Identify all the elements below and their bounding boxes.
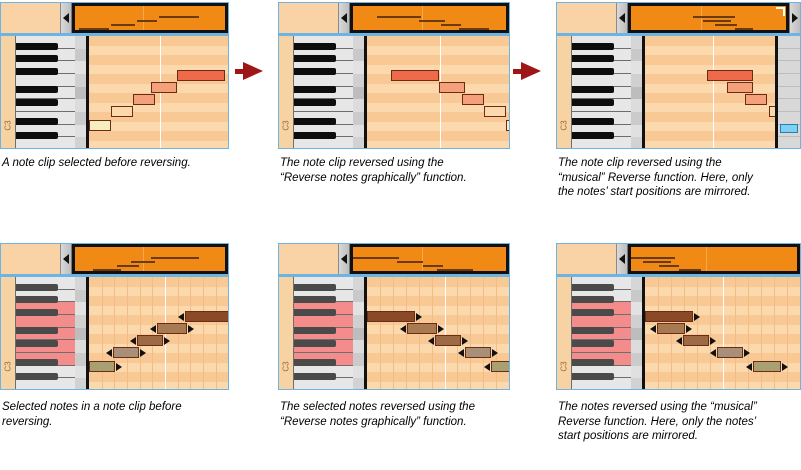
black-key-2[interactable] xyxy=(572,55,614,62)
black-key-5[interactable] xyxy=(16,99,58,106)
clip-overview[interactable] xyxy=(72,244,228,274)
note-2[interactable] xyxy=(407,323,437,334)
grid-beat-line-7 xyxy=(457,277,458,390)
triangle-left-icon xyxy=(63,254,69,264)
note-wrapper-2 xyxy=(111,106,133,117)
velocity-segment-2 xyxy=(631,290,642,303)
grid-beat-line-1 xyxy=(380,277,381,390)
overview-note-1 xyxy=(93,269,121,271)
scroll-segment-3 xyxy=(778,61,800,74)
velocity-segment-7 xyxy=(353,112,364,125)
overview-left-handle[interactable] xyxy=(617,3,628,33)
overview-left-pane xyxy=(1,244,61,274)
velocity-segment-5 xyxy=(353,328,364,341)
overview-note-1 xyxy=(377,16,421,18)
grid-beat-line-9 xyxy=(761,277,762,390)
note-handle-left-3[interactable] xyxy=(130,337,136,345)
white-key-9[interactable] xyxy=(294,137,353,149)
black-key-6[interactable] xyxy=(294,118,336,125)
white-key-4[interactable] xyxy=(16,315,75,328)
grid-row-band-1 xyxy=(89,277,228,287)
note-grid[interactable] xyxy=(642,277,800,390)
white-key-4[interactable] xyxy=(294,74,353,87)
note-handle-left-2[interactable] xyxy=(650,325,656,333)
caption-line-1: The notes reversed using the “musical” xyxy=(558,400,801,415)
black-key-2[interactable] xyxy=(572,296,614,303)
piano-keyboard[interactable] xyxy=(571,36,631,149)
note-wrapper-2 xyxy=(113,347,139,358)
grid-row-band-11 xyxy=(645,131,775,141)
note-handle-left-1[interactable] xyxy=(86,363,88,371)
note-2[interactable] xyxy=(113,347,139,358)
note-handle-left-2[interactable] xyxy=(106,349,112,357)
clip-overview[interactable] xyxy=(350,244,509,274)
note-5[interactable] xyxy=(491,361,509,372)
velocity-segment-9 xyxy=(353,137,364,149)
overview-note-4 xyxy=(437,269,473,271)
overview-left-handle[interactable] xyxy=(339,244,350,274)
keyboard-note-label: C3 xyxy=(4,118,13,134)
velocity-segment-6 xyxy=(631,99,642,112)
black-key-1[interactable] xyxy=(572,284,614,291)
note-wrapper-2 xyxy=(727,82,753,93)
note-wrapper-2 xyxy=(439,82,465,93)
black-key-6[interactable] xyxy=(16,359,58,366)
note-clip-reversed-musical-caption: The note clip reversed using the“musical… xyxy=(558,156,801,200)
piano-keyboard[interactable] xyxy=(293,36,353,149)
black-key-7[interactable] xyxy=(294,373,336,380)
scroll-segment-6 xyxy=(778,99,800,112)
black-key-2[interactable] xyxy=(16,55,58,62)
velocity-strip xyxy=(75,36,86,149)
velocity-segment-7 xyxy=(631,112,642,125)
triangle-left-icon xyxy=(341,13,347,23)
clip-overview[interactable] xyxy=(628,244,800,274)
overview-note-2 xyxy=(419,20,445,22)
note-handle-left-5[interactable] xyxy=(484,363,490,371)
velocity-segment-9 xyxy=(631,137,642,149)
black-key-3[interactable] xyxy=(294,68,336,75)
note-handle-left-4[interactable] xyxy=(710,349,716,357)
note-handle-left-4[interactable] xyxy=(150,325,156,333)
note-1[interactable] xyxy=(367,311,415,322)
note-1[interactable] xyxy=(89,361,115,372)
grid-row-band-3 xyxy=(89,55,228,65)
clip-resize-corner[interactable] xyxy=(776,7,785,16)
note-4[interactable] xyxy=(769,106,778,117)
note-wrapper-4 xyxy=(484,106,506,117)
grid-beat-line-6 xyxy=(445,277,446,390)
note-handle-right-4[interactable] xyxy=(492,349,498,357)
black-key-2[interactable] xyxy=(294,55,336,62)
note-grid[interactable] xyxy=(364,277,509,390)
black-key-5[interactable] xyxy=(16,340,58,347)
note-1[interactable] xyxy=(391,70,439,81)
velocity-segment-5 xyxy=(75,87,86,100)
clip-overview[interactable] xyxy=(350,3,509,33)
overview-tick xyxy=(701,6,702,30)
black-key-5[interactable] xyxy=(294,99,336,106)
note-wrapper-3 xyxy=(683,335,709,346)
note-wrapper-4 xyxy=(465,347,491,358)
black-key-4[interactable] xyxy=(572,86,614,93)
black-key-1[interactable] xyxy=(16,284,58,291)
overview-note-4 xyxy=(735,28,753,30)
black-key-7[interactable] xyxy=(572,373,614,380)
note-wrapper-5 xyxy=(491,361,509,372)
black-key-4[interactable] xyxy=(294,86,336,93)
overview-tick xyxy=(422,247,423,271)
overview-left-pane xyxy=(557,244,617,274)
velocity-segment-5 xyxy=(631,87,642,100)
overview-right-handle[interactable] xyxy=(789,3,800,33)
triangle-left-icon xyxy=(63,13,69,23)
note-wrapper-5 xyxy=(506,120,509,131)
note-3[interactable] xyxy=(137,335,163,346)
overview-tick xyxy=(143,247,144,271)
scroll-segment-1 xyxy=(778,36,800,49)
black-key-2[interactable] xyxy=(294,296,336,303)
note-handle-right-5[interactable] xyxy=(782,363,788,371)
keyboard-margin: C3 xyxy=(1,277,15,390)
black-key-3[interactable] xyxy=(572,68,614,75)
note-handle-right-3[interactable] xyxy=(462,337,468,345)
selected-notes-reversed-graphically-caption: The selected notes reversed using the“Re… xyxy=(280,400,530,429)
overview-note-3 xyxy=(423,265,443,267)
note-clip-original-caption: A note clip selected before reversing. xyxy=(2,156,252,171)
white-key-9[interactable] xyxy=(572,378,631,390)
caption-line-1: The note clip reversed using the xyxy=(280,156,530,171)
grid-row-band-7 xyxy=(367,93,509,103)
black-key-3[interactable] xyxy=(572,309,614,316)
note-handle-left-5[interactable] xyxy=(178,313,184,321)
black-key-6[interactable] xyxy=(572,359,614,366)
note-handle-right-3[interactable] xyxy=(710,337,716,345)
arrow-step-1-to-2 xyxy=(243,62,263,80)
grid-row-band-1 xyxy=(367,277,509,287)
overview-left-pane xyxy=(279,244,339,274)
grid-beat-line-5 xyxy=(710,277,711,390)
note-wrapper-5 xyxy=(753,361,781,372)
note-1[interactable] xyxy=(707,70,753,81)
grid-beat-line-10 xyxy=(774,277,775,390)
note-handle-left-3[interactable] xyxy=(428,337,434,345)
note-handle-right-4[interactable] xyxy=(188,325,194,333)
note-3[interactable] xyxy=(133,94,155,105)
vertical-scroll-pad[interactable] xyxy=(778,36,800,149)
black-key-3[interactable] xyxy=(16,309,58,316)
velocity-segment-8 xyxy=(353,366,364,379)
caption-line-1: A note clip selected before reversing. xyxy=(2,156,252,171)
note-wrapper-5 xyxy=(185,311,228,322)
overview-left-pane xyxy=(557,3,617,33)
note-grid[interactable] xyxy=(642,36,778,149)
clip-overview[interactable] xyxy=(72,3,228,33)
selected-notes-reversed-graphically-body: C3 xyxy=(279,277,509,390)
grid-beat-line-8 xyxy=(748,277,749,390)
black-key-1[interactable] xyxy=(572,43,614,50)
overview-note-3 xyxy=(441,24,461,26)
black-key-6[interactable] xyxy=(572,118,614,125)
overview-tick xyxy=(422,6,423,30)
note-wrapper-3 xyxy=(745,94,767,105)
piano-keyboard[interactable] xyxy=(15,36,75,149)
note-clip-reversed-graphically-caption: The note clip reversed using the“Reverse… xyxy=(280,156,530,185)
note-3[interactable] xyxy=(462,94,484,105)
velocity-segment-7 xyxy=(353,353,364,366)
velocity-segment-4 xyxy=(353,315,364,328)
selected-notes-reversed-musical-body: C3 xyxy=(557,277,800,390)
velocity-segment-1 xyxy=(631,36,642,49)
piano-keyboard[interactable] xyxy=(571,277,631,390)
white-key-4[interactable] xyxy=(572,74,631,87)
selected-notes-reversed-musical-caption: The notes reversed using the “musical”Re… xyxy=(558,400,801,444)
note-handle-right-3[interactable] xyxy=(164,337,170,345)
triangle-left-icon xyxy=(619,254,625,264)
overview-left-pane xyxy=(1,3,61,33)
keyboard-note-label: C3 xyxy=(282,118,291,134)
note-handle-right-1[interactable] xyxy=(116,363,122,371)
overview-left-handle[interactable] xyxy=(61,3,72,33)
note-clip-reversed-graphically-figure: C3 xyxy=(278,2,510,219)
overview-note-2 xyxy=(703,20,731,22)
overview-note-3 xyxy=(131,261,155,263)
note-grid[interactable] xyxy=(364,36,509,149)
keyboard-margin: C3 xyxy=(279,36,293,149)
grid-beat-line-6 xyxy=(723,277,724,390)
note-wrapper-4 xyxy=(769,106,778,117)
velocity-strip xyxy=(631,36,642,149)
note-handle-left-5[interactable] xyxy=(746,363,752,371)
overview-note-3 xyxy=(137,20,157,22)
piano-keyboard[interactable] xyxy=(15,277,75,390)
note-handle-right-2[interactable] xyxy=(438,325,444,333)
scroll-segment-9 xyxy=(778,137,800,149)
note-wrapper-4 xyxy=(157,323,187,334)
velocity-segment-8 xyxy=(75,366,86,379)
note-2[interactable] xyxy=(111,106,133,117)
piano-keyboard[interactable] xyxy=(293,277,353,390)
velocity-segment-2 xyxy=(631,49,642,62)
note-clip-reversed-graphically-body: C3 xyxy=(279,36,509,149)
caption-line-2: reversing. xyxy=(2,415,252,430)
grid-row-band-1 xyxy=(89,36,228,46)
note-wrapper-3 xyxy=(462,94,484,105)
note-clip-reversed-musical-editor[interactable]: C3 xyxy=(556,2,801,149)
white-key-4[interactable] xyxy=(16,74,75,87)
selected-notes-reversed-graphically-overview-bar xyxy=(279,244,509,274)
note-wrapper-3 xyxy=(137,335,163,346)
note-grid[interactable] xyxy=(86,277,228,390)
velocity-segment-8 xyxy=(631,125,642,138)
overview-left-handle[interactable] xyxy=(617,244,628,274)
selected-notes-reversed-musical-overview-bar xyxy=(557,244,800,274)
note-1[interactable] xyxy=(645,311,693,322)
black-key-1[interactable] xyxy=(294,284,336,291)
white-key-9[interactable] xyxy=(572,137,631,149)
velocity-segment-3 xyxy=(75,61,86,74)
velocity-segment-9 xyxy=(353,378,364,390)
note-handle-left-2[interactable] xyxy=(400,325,406,333)
caption-line-2: Reverse function. Here, only the notes’ xyxy=(558,415,801,430)
note-clip-reversed-musical-overview-bar xyxy=(557,3,800,33)
note-2[interactable] xyxy=(727,82,753,93)
note-3[interactable] xyxy=(745,94,767,105)
note-clip-original-editor[interactable]: C3 xyxy=(0,2,229,149)
black-key-7[interactable] xyxy=(572,132,614,139)
note-clip-reversed-graphically-editor[interactable]: C3 xyxy=(278,2,510,149)
white-key-4[interactable] xyxy=(572,315,631,328)
note-wrapper-2 xyxy=(407,323,437,334)
note-4[interactable] xyxy=(151,82,177,93)
arrow-step-2-to-3-stem xyxy=(513,69,521,74)
selected-notes-reversed-graphically-editor[interactable]: C3 xyxy=(278,243,510,390)
selection-indicator[interactable] xyxy=(780,124,798,133)
overview-tick xyxy=(143,6,144,30)
note-grid[interactable] xyxy=(86,36,228,149)
note-handle-right-2[interactable] xyxy=(686,325,692,333)
note-5[interactable] xyxy=(753,361,781,372)
white-key-9[interactable] xyxy=(294,378,353,390)
grid-row-band-3 xyxy=(645,55,775,65)
keyboard-margin: C3 xyxy=(557,277,571,390)
overview-left-handle[interactable] xyxy=(61,244,72,274)
overview-note-4 xyxy=(679,269,701,271)
velocity-segment-1 xyxy=(353,36,364,49)
note-wrapper-2 xyxy=(657,323,685,334)
note-handle-right-1[interactable] xyxy=(416,313,422,321)
grid-beat-line-11 xyxy=(787,277,788,390)
velocity-segment-2 xyxy=(353,49,364,62)
white-key-4[interactable] xyxy=(294,315,353,328)
black-key-5[interactable] xyxy=(572,99,614,106)
black-key-4[interactable] xyxy=(572,327,614,334)
white-key-9[interactable] xyxy=(16,137,75,149)
keyboard-note-label: C3 xyxy=(282,359,291,375)
black-key-3[interactable] xyxy=(16,68,58,75)
triangle-left-icon xyxy=(619,13,625,23)
grid-row-band-11 xyxy=(89,372,228,382)
note-3[interactable] xyxy=(683,335,709,346)
black-key-4[interactable] xyxy=(16,86,58,93)
overview-note-1 xyxy=(693,16,735,18)
note-wrapper-3 xyxy=(435,335,461,346)
note-2[interactable] xyxy=(439,82,465,93)
keyboard-margin: C3 xyxy=(557,36,571,149)
velocity-segment-3 xyxy=(353,302,364,315)
overview-tick xyxy=(706,247,707,271)
note-4[interactable] xyxy=(465,347,491,358)
caption-line-3: the notes’ start positions are mirrored. xyxy=(558,185,801,200)
note-handle-left-3[interactable] xyxy=(676,337,682,345)
keyboard-margin: C3 xyxy=(1,36,15,149)
black-key-7[interactable] xyxy=(16,132,58,139)
caption-line-1: The note clip reversed using the xyxy=(558,156,801,171)
black-key-3[interactable] xyxy=(294,309,336,316)
grid-beat-line-2 xyxy=(393,277,394,390)
note-5[interactable] xyxy=(506,120,509,131)
note-clip-reversed-musical-body: C3 xyxy=(557,36,800,149)
velocity-segment-3 xyxy=(631,302,642,315)
overview-left-handle[interactable] xyxy=(339,3,350,33)
selected-notes-original-editor[interactable]: C3 xyxy=(0,243,229,390)
note-4[interactable] xyxy=(157,323,187,334)
velocity-segment-7 xyxy=(75,353,86,366)
note-5[interactable] xyxy=(185,311,228,322)
velocity-segment-9 xyxy=(631,378,642,390)
grid-beat-line-8 xyxy=(470,277,471,390)
selected-notes-reversed-musical-editor[interactable]: C3 xyxy=(556,243,801,390)
note-1[interactable] xyxy=(89,120,111,131)
velocity-segment-9 xyxy=(75,137,86,149)
note-wrapper-4 xyxy=(151,82,177,93)
figure-page: C3A note clip selected before reversing.… xyxy=(0,0,801,470)
grid-row-band-1 xyxy=(367,36,509,46)
black-key-2[interactable] xyxy=(16,296,58,303)
black-key-5[interactable] xyxy=(572,340,614,347)
white-key-9[interactable] xyxy=(16,378,75,390)
note-4[interactable] xyxy=(484,106,506,117)
grid-beat-line-8 xyxy=(190,277,191,390)
black-key-6[interactable] xyxy=(16,118,58,125)
velocity-segment-1 xyxy=(353,277,364,290)
selected-notes-original-body: C3 xyxy=(1,277,228,390)
note-handle-left-4[interactable] xyxy=(458,349,464,357)
note-clip-original-body: C3 xyxy=(1,36,228,149)
note-4[interactable] xyxy=(717,347,743,358)
note-handle-right-2[interactable] xyxy=(140,349,146,357)
black-key-7[interactable] xyxy=(294,132,336,139)
caption-line-2: “musical” Reverse function. Here, only xyxy=(558,171,801,186)
selected-notes-original-overview-bar xyxy=(1,244,228,274)
grid-beat-line-2 xyxy=(114,277,115,390)
caption-line-3: start positions are mirrored. xyxy=(558,429,801,444)
keyboard-note-label: C3 xyxy=(4,359,13,375)
velocity-strip xyxy=(631,277,642,390)
velocity-segment-6 xyxy=(353,340,364,353)
arrow-step-1-to-2-stem xyxy=(235,69,243,74)
note-handle-right-4[interactable] xyxy=(744,349,750,357)
velocity-strip xyxy=(353,36,364,149)
note-handle-right-1[interactable] xyxy=(694,313,700,321)
velocity-segment-1 xyxy=(75,36,86,49)
overview-note-3 xyxy=(659,265,679,267)
note-5[interactable] xyxy=(177,70,225,81)
velocity-strip xyxy=(75,277,86,390)
velocity-segment-9 xyxy=(75,378,86,390)
black-key-4[interactable] xyxy=(294,327,336,334)
note-2[interactable] xyxy=(657,323,685,334)
caption-line-2: “Reverse notes graphically” function. xyxy=(280,415,530,430)
clip-overview[interactable] xyxy=(628,3,789,33)
black-key-6[interactable] xyxy=(294,359,336,366)
grid-beat-line-10 xyxy=(216,277,217,390)
grid-row-band-11 xyxy=(367,372,509,382)
black-key-7[interactable] xyxy=(16,373,58,380)
black-key-1[interactable] xyxy=(294,43,336,50)
black-key-5[interactable] xyxy=(294,340,336,347)
grid-beat-line-9 xyxy=(203,277,204,390)
grid-row-band-3 xyxy=(367,296,509,306)
note-3[interactable] xyxy=(435,335,461,346)
black-key-4[interactable] xyxy=(16,327,58,334)
grid-row-band-11 xyxy=(89,131,228,141)
overview-note-1 xyxy=(79,28,109,30)
overview-note-2 xyxy=(397,261,423,263)
scroll-segment-4 xyxy=(778,74,800,87)
velocity-segment-3 xyxy=(631,61,642,74)
black-key-1[interactable] xyxy=(16,43,58,50)
